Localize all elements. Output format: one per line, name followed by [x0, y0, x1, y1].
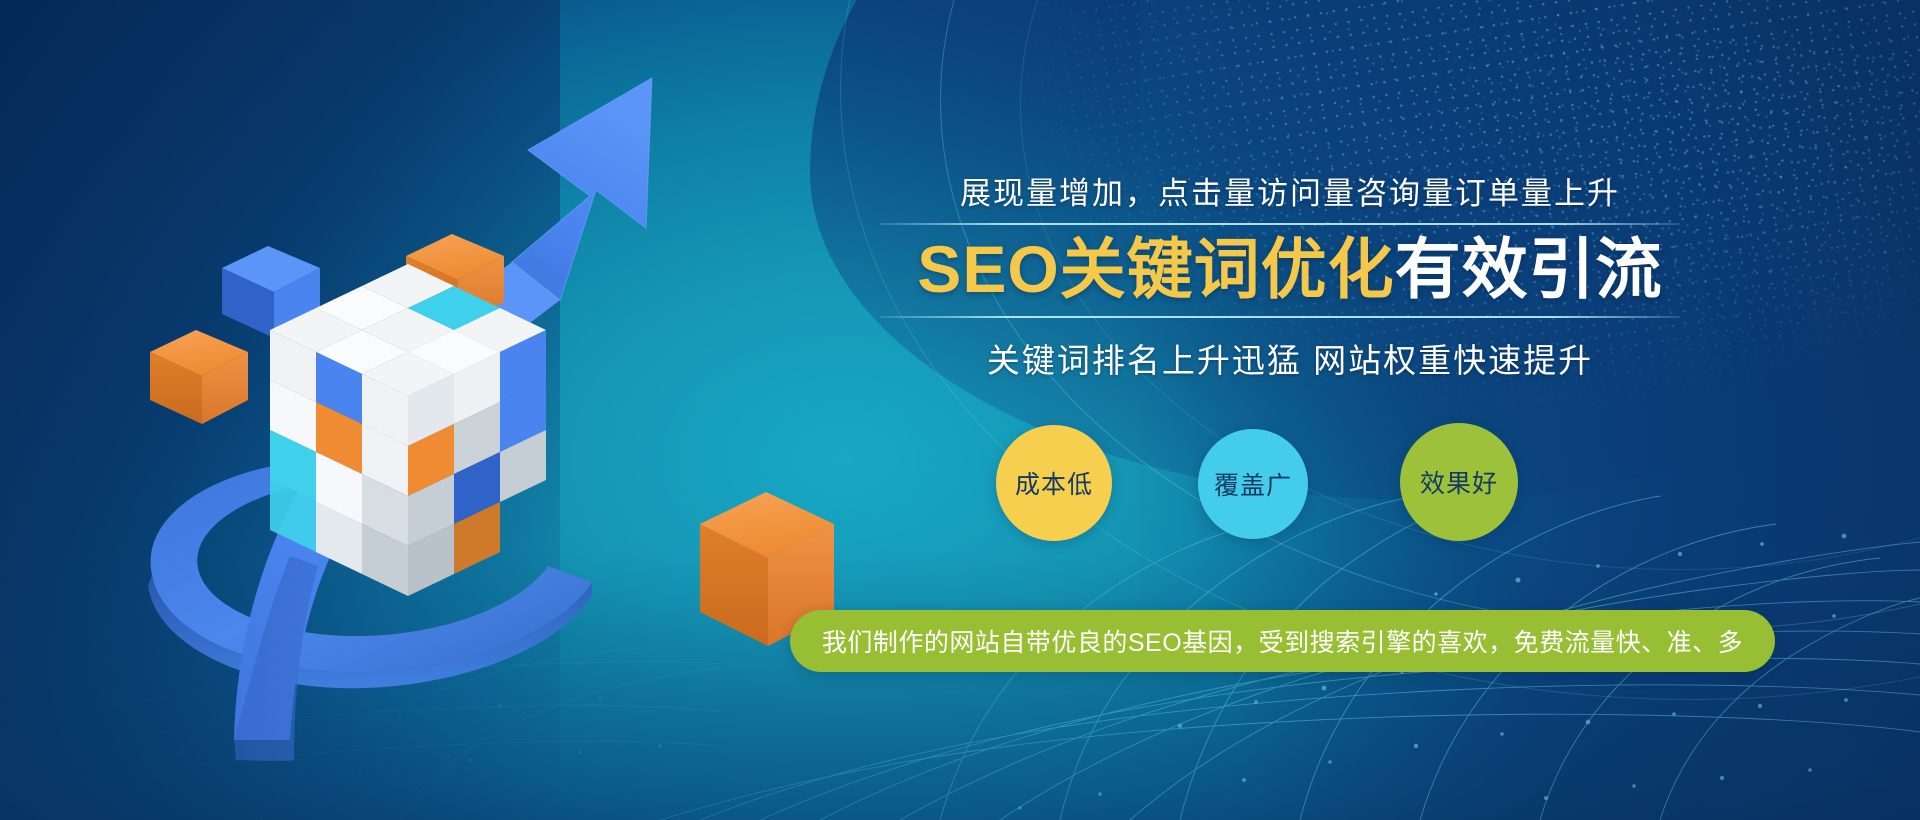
footer-note-text: 我们制作的网站自带优良的SEO基因，受到搜索引擎的喜欢，免费流量快、准、多	[822, 623, 1743, 659]
cubelet-orange-left	[150, 330, 248, 424]
growth-graphic	[0, 0, 900, 820]
benefit-badges: 成本低 覆盖广 效果好	[990, 423, 1560, 553]
rubiks-cube	[150, 234, 546, 596]
tagline-sub: 关键词排名上升迅猛 网站权重快速提升	[880, 334, 1700, 382]
divider-top	[880, 223, 1680, 225]
headline-block: 展现量增加，点击量访问量咨询量订单量上升 SEO关键词优化有效引流 关键词排名上…	[880, 168, 1700, 382]
badge-effect-good[interactable]: 效果好	[1400, 423, 1518, 541]
divider-bottom	[880, 316, 1680, 318]
footer-note-pill: 我们制作的网站自带优良的SEO基因，受到搜索引擎的喜欢，免费流量快、准、多	[790, 610, 1775, 672]
tagline-top: 展现量增加，点击量访问量咨询量订单量上升	[880, 168, 1700, 213]
badge-label: 成本低	[1015, 465, 1093, 501]
seo-promo-banner: 展现量增加，点击量访问量咨询量订单量上升 SEO关键词优化有效引流 关键词排名上…	[0, 0, 1920, 820]
badge-label: 效果好	[1420, 464, 1498, 500]
badge-coverage-wide[interactable]: 覆盖广	[1198, 429, 1308, 539]
headline-accent-text: SEO关键词优化	[917, 232, 1394, 306]
headline-plain-text: 有效引流	[1395, 232, 1663, 306]
badge-cost-low[interactable]: 成本低	[996, 425, 1112, 541]
badge-label: 覆盖广	[1214, 466, 1292, 502]
page-title: SEO关键词优化有效引流	[880, 229, 1700, 310]
